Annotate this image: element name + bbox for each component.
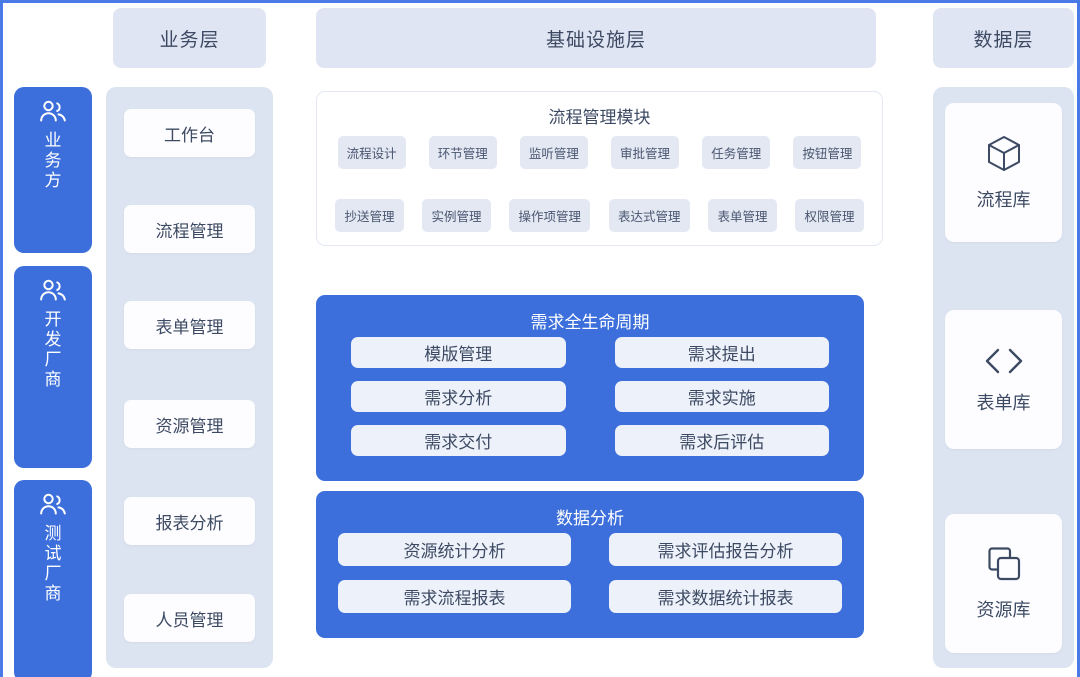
layer-header-infrastructure-label: 基础设施层	[546, 25, 646, 52]
data-card-label: 表单库	[977, 389, 1031, 415]
tag-approval-management[interactable]: 审批管理	[611, 136, 679, 169]
analysis-btn-requirement-evaluation-report[interactable]: 需求评估报告分析	[609, 533, 842, 566]
data-card-label: 资源库	[977, 596, 1031, 622]
business-item-label: 工作台	[164, 121, 215, 146]
business-item-report-analysis[interactable]: 报表分析	[124, 497, 255, 545]
lifecycle-btn-requirement-post-evaluation[interactable]: 需求后评估	[615, 425, 830, 456]
business-item-form-management[interactable]: 表单管理	[124, 301, 255, 349]
process-module-tag-row-2: 抄送管理 实例管理 操作项管理 表达式管理 表单管理 权限管理	[317, 199, 882, 232]
data-card-process-library[interactable]: 流程库	[945, 103, 1062, 242]
requirement-lifecycle-panel: 需求全生命周期 模版管理 需求提出 需求分析 需求实施 需求交付 需求后评估	[316, 295, 864, 481]
lifecycle-btn-requirement-implementation[interactable]: 需求实施	[615, 381, 830, 412]
lifecycle-btn-requirement-analysis[interactable]: 需求分析	[351, 381, 566, 412]
process-module-title: 流程管理模块	[317, 103, 882, 128]
tag-listener-management[interactable]: 监听管理	[520, 136, 588, 169]
role-rail: 业务方 开发厂商 测试厂商	[14, 87, 94, 667]
data-card-resource-library[interactable]: 资源库	[945, 514, 1062, 653]
tag-instance-management[interactable]: 实例管理	[422, 199, 490, 232]
process-module-tag-row-1: 流程设计 环节管理 监听管理 审批管理 任务管理 按钮管理	[317, 136, 882, 169]
tag-cc-management[interactable]: 抄送管理	[335, 199, 403, 232]
role-label: 测试厂商	[42, 524, 64, 604]
data-analysis-panel: 数据分析 资源统计分析 需求评估报告分析 需求流程报表 需求数据统计报表	[316, 491, 864, 638]
users-icon	[38, 99, 68, 125]
business-item-resource-management[interactable]: 资源管理	[124, 400, 255, 448]
layer-header-data-label: 数据层	[973, 25, 1033, 52]
code-brackets-icon	[982, 345, 1026, 377]
analysis-btn-requirement-process-report[interactable]: 需求流程报表	[338, 580, 571, 613]
layer-header-business-label: 业务层	[159, 25, 219, 52]
role-card-testing-vendor[interactable]: 测试厂商	[14, 480, 92, 677]
tag-operation-management[interactable]: 操作项管理	[509, 199, 590, 232]
business-item-workbench[interactable]: 工作台	[124, 109, 255, 157]
tag-button-management[interactable]: 按钮管理	[793, 136, 861, 169]
role-card-development-vendor[interactable]: 开发厂商	[14, 266, 92, 468]
data-card-form-library[interactable]: 表单库	[945, 310, 1062, 449]
users-icon	[38, 278, 68, 304]
business-item-label: 资源管理	[156, 412, 224, 437]
analysis-btn-requirement-data-statistics-report[interactable]: 需求数据统计报表	[609, 580, 842, 613]
business-item-personnel-management[interactable]: 人员管理	[124, 594, 255, 642]
role-card-business-party[interactable]: 业务方	[14, 87, 92, 253]
business-item-label: 流程管理	[156, 217, 224, 242]
lifecycle-btn-requirement-delivery[interactable]: 需求交付	[351, 425, 566, 456]
tag-expression-management[interactable]: 表达式管理	[609, 199, 690, 232]
business-item-label: 报表分析	[156, 509, 224, 534]
data-layer-column: 流程库 表单库 资源库	[933, 87, 1074, 668]
architecture-diagram: 业务层 基础设施层 数据层 业务方	[0, 0, 1080, 677]
lifecycle-btn-requirement-proposal[interactable]: 需求提出	[615, 337, 830, 368]
lifecycle-panel-title: 需求全生命周期	[316, 295, 864, 333]
users-icon	[38, 492, 68, 518]
cube-icon	[985, 134, 1023, 174]
layer-header-data: 数据层	[933, 8, 1074, 68]
process-management-module: 流程管理模块 流程设计 环节管理 监听管理 审批管理 任务管理 按钮管理 抄送管…	[316, 91, 883, 246]
layer-header-infrastructure: 基础设施层	[316, 8, 876, 68]
tag-form-management[interactable]: 表单管理	[708, 199, 776, 232]
business-item-label: 表单管理	[156, 313, 224, 338]
data-card-label: 流程库	[977, 186, 1031, 212]
business-layer-column: 工作台 流程管理 表单管理 资源管理 报表分析 人员管理	[106, 87, 273, 668]
copy-layers-icon	[985, 546, 1023, 584]
role-label: 开发厂商	[42, 310, 64, 390]
business-item-process-management[interactable]: 流程管理	[124, 205, 255, 253]
layer-header-business: 业务层	[113, 8, 266, 68]
role-label: 业务方	[42, 131, 64, 191]
lifecycle-panel-grid: 模版管理 需求提出 需求分析 需求实施 需求交付 需求后评估	[316, 337, 864, 456]
infrastructure-layer-column: 流程管理模块 流程设计 环节管理 监听管理 审批管理 任务管理 按钮管理 抄送管…	[287, 87, 905, 668]
tag-process-design[interactable]: 流程设计	[338, 136, 406, 169]
tag-node-management[interactable]: 环节管理	[429, 136, 497, 169]
business-item-label: 人员管理	[156, 606, 224, 631]
tag-task-management[interactable]: 任务管理	[702, 136, 770, 169]
lifecycle-btn-template-management[interactable]: 模版管理	[351, 337, 566, 368]
analysis-panel-title: 数据分析	[316, 491, 864, 529]
analysis-btn-resource-statistics[interactable]: 资源统计分析	[338, 533, 571, 566]
analysis-panel-grid: 资源统计分析 需求评估报告分析 需求流程报表 需求数据统计报表	[316, 533, 864, 613]
tag-permission-management[interactable]: 权限管理	[795, 199, 863, 232]
